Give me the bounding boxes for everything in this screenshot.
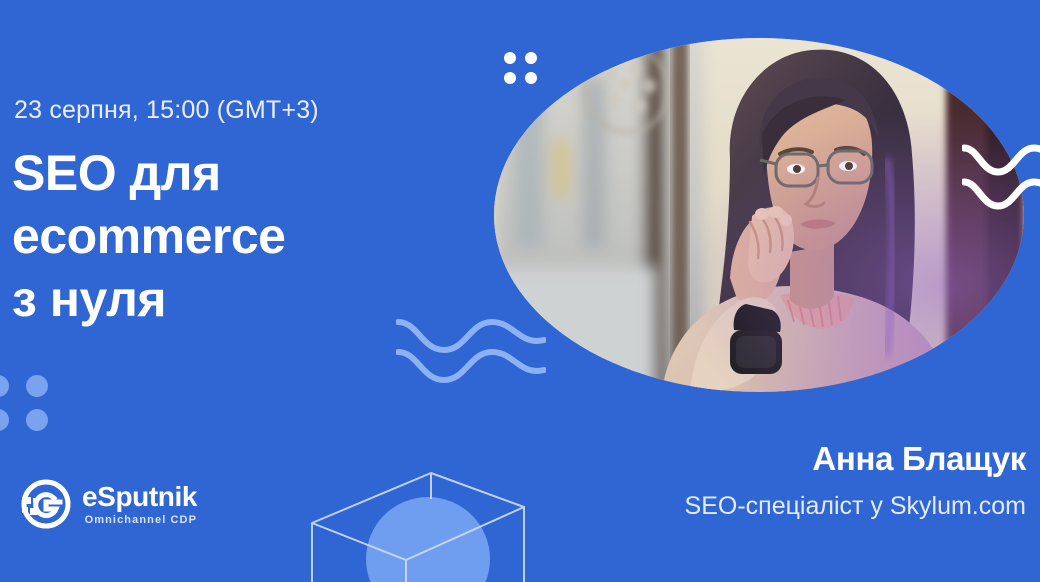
dot	[26, 375, 48, 397]
dot	[525, 52, 537, 64]
dot-grid-icon-left	[0, 375, 57, 435]
dot	[0, 375, 9, 397]
speaker-name: Анна Блащук	[685, 440, 1026, 478]
wave-lines-icon-right	[962, 128, 1040, 228]
speaker-info: Анна Блащук SEO-спеціаліст у Skylum.com	[685, 440, 1026, 521]
title-line-2: ecommerce	[12, 205, 432, 268]
dot	[0, 409, 9, 431]
speaker-portrait-photo	[494, 38, 1024, 392]
title-line-3: з нуля	[12, 268, 432, 331]
wireframe-cube-icon	[296, 455, 546, 582]
dot	[504, 72, 516, 84]
event-datetime: 23 серпня, 15:00 (GMT+3)	[14, 96, 319, 125]
webinar-promo-banner: 23 серпня, 15:00 (GMT+3) SEO для ecommer…	[0, 0, 1040, 582]
esputnik-e-circle-icon	[20, 478, 72, 530]
dot-grid-icon-photo	[504, 52, 540, 86]
logo-tagline: Omnichannel CDP	[82, 515, 197, 526]
logo-name: eSputnik	[82, 483, 197, 511]
logo-wordmark: eSputnik Omnichannel CDP	[82, 483, 197, 526]
title-line-1: SEO для	[12, 142, 432, 205]
page-title: SEO для ecommerce з нуля	[12, 142, 432, 331]
dot	[26, 409, 48, 431]
dot	[525, 72, 537, 84]
speaker-role: SEO-спеціаліст у Skylum.com	[685, 492, 1026, 521]
esputnik-logo: eSputnik Omnichannel CDP	[20, 478, 197, 530]
dot	[504, 52, 516, 64]
